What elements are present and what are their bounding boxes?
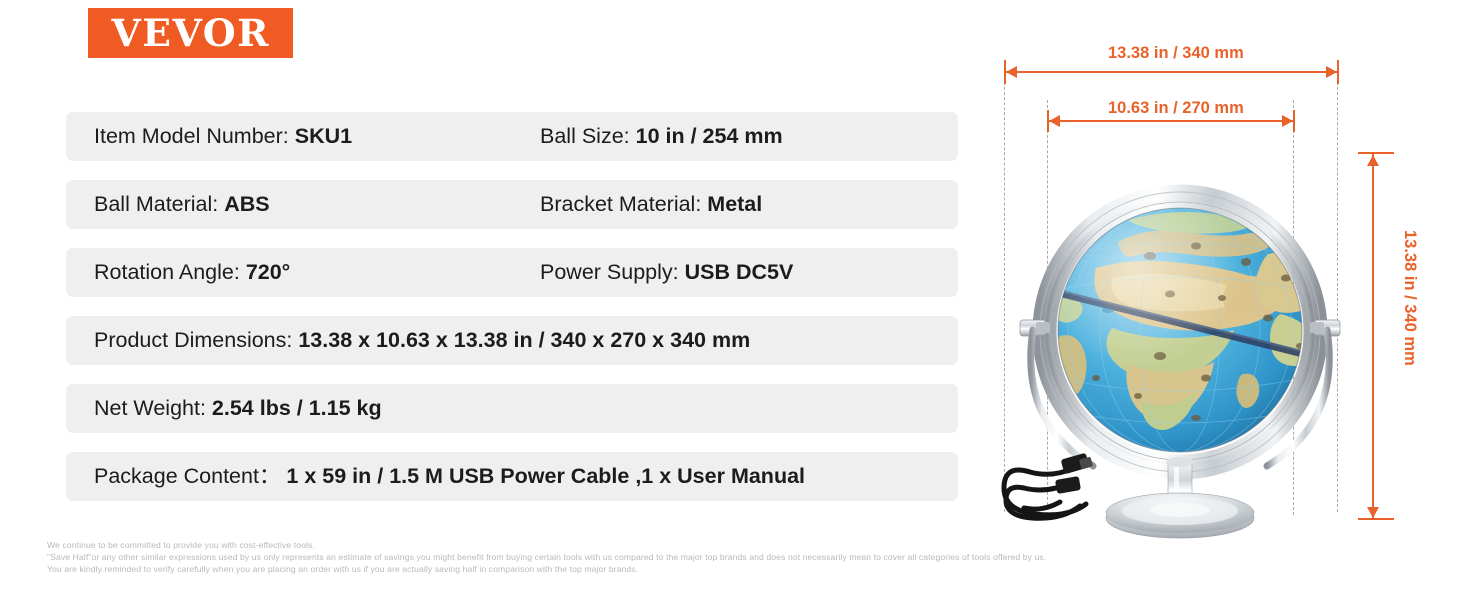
product-image-globe: [1000, 150, 1360, 550]
spec-value: 2.54 lbs / 1.15 kg: [212, 396, 382, 420]
spec-label: Product Dimensions:: [94, 328, 298, 352]
spec-net-weight: Net Weight: 2.54 lbs / 1.15 kg: [94, 398, 382, 420]
spec-label: Net Weight:: [94, 396, 212, 420]
dim-line-width-outer: [1005, 71, 1338, 73]
spec-value: 10 in / 254 mm: [636, 124, 783, 148]
spec-label: Package Content：: [94, 464, 286, 488]
dimension-label-width-inner: 10.63 in / 270 mm: [1108, 100, 1244, 117]
arrow-left-icon-width-outer: [1006, 66, 1017, 78]
brand-wordmark: VEVOR: [111, 15, 270, 52]
spec-value: ABS: [224, 192, 269, 216]
arrow-left-icon-width-inner: [1049, 115, 1060, 127]
spec-label: Ball Material:: [94, 192, 224, 216]
spec-ball-size: Ball Size: 10 in / 254 mm: [540, 126, 783, 148]
spec-power-supply: Power Supply: USB DC5V: [540, 262, 793, 284]
spec-item-model-number: Item Model Number: SKU1: [94, 126, 540, 148]
spec-value: USB DC5V: [685, 260, 794, 284]
brand-logo: VEVOR: [88, 8, 293, 58]
spec-label: Power Supply:: [540, 260, 685, 284]
spec-row: Package Content： 1 x 59 in / 1.5 M USB P…: [66, 452, 958, 501]
dim-line-width-inner: [1048, 120, 1294, 122]
spec-value: Metal: [707, 192, 762, 216]
spec-ball-material: Ball Material: ABS: [94, 194, 540, 216]
usb-power-cable: [1004, 468, 1086, 518]
spec-value: 13.38 x 10.63 x 13.38 in / 340 x 270 x 3…: [298, 328, 750, 352]
spec-value: 1 x 59 in / 1.5 M USB Power Cable ,1 x U…: [286, 464, 805, 488]
spec-row: Ball Material: ABS Bracket Material: Met…: [66, 180, 958, 229]
dim-line-height: [1372, 153, 1374, 519]
dimension-label-width-outer: 13.38 in / 340 mm: [1108, 45, 1244, 62]
spec-product-dimensions: Product Dimensions: 13.38 x 10.63 x 13.3…: [94, 330, 750, 352]
spec-bracket-material: Bracket Material: Metal: [540, 194, 762, 216]
dimension-label-height: 13.38 in / 340 mm: [1402, 230, 1419, 366]
arrow-right-icon-width-outer: [1326, 66, 1337, 78]
spec-label: Bracket Material:: [540, 192, 707, 216]
spec-row: Product Dimensions: 13.38 x 10.63 x 13.3…: [66, 316, 958, 365]
spec-value: 720°: [246, 260, 290, 284]
spec-row: Rotation Angle: 720° Power Supply: USB D…: [66, 248, 958, 297]
arrow-down-icon-height: [1367, 507, 1379, 518]
spec-label: Item Model Number:: [94, 124, 295, 148]
arrow-up-icon-height: [1367, 155, 1379, 166]
specification-list: Item Model Number: SKU1 Ball Size: 10 in…: [66, 112, 958, 520]
spec-row: Net Weight: 2.54 lbs / 1.15 kg: [66, 384, 958, 433]
spec-package-content: Package Content： 1 x 59 in / 1.5 M USB P…: [94, 466, 805, 488]
stand-base: [1106, 493, 1254, 538]
arrow-right-icon-width-inner: [1282, 115, 1293, 127]
spec-value: SKU1: [295, 124, 352, 148]
spec-rotation-angle: Rotation Angle: 720°: [94, 262, 540, 284]
spec-label: Ball Size:: [540, 124, 636, 148]
spec-row: Item Model Number: SKU1 Ball Size: 10 in…: [66, 112, 958, 161]
dim-cap-bottom-height: [1358, 518, 1394, 520]
spec-label: Rotation Angle:: [94, 260, 246, 284]
dim-cap-top-height: [1358, 152, 1394, 154]
